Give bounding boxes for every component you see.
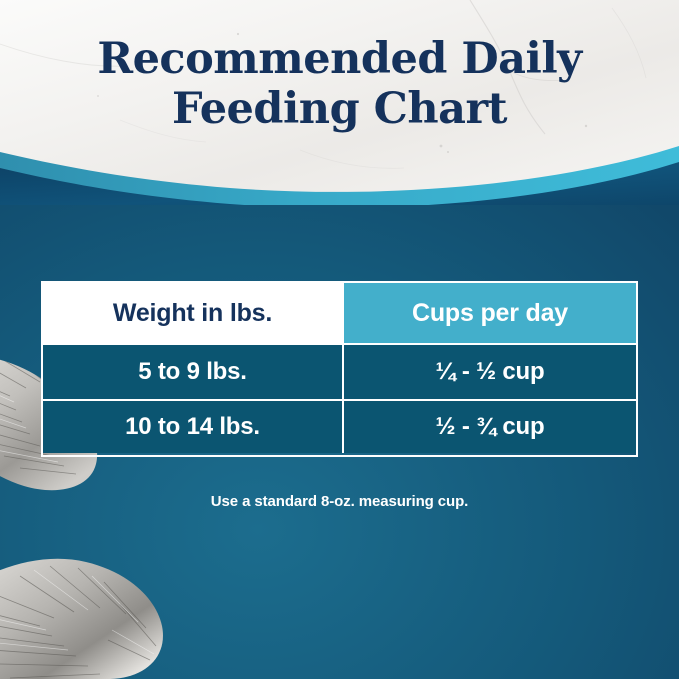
table-row: 5 to 9 lbs. ¼ - ½ cup bbox=[43, 345, 636, 399]
cat-paw-lower bbox=[0, 559, 163, 679]
cell-weight-range: 5 to 9 lbs. bbox=[43, 345, 342, 399]
hero-banner: Recommended Daily Feeding Chart bbox=[0, 0, 679, 205]
feeding-chart-poster: Recommended Daily Feeding Chart bbox=[0, 0, 679, 679]
measuring-cup-footnote: Use a standard 8-oz. measuring cup. bbox=[0, 493, 679, 510]
feeding-chart-table: Weight in lbs. Cups per day 5 to 9 lbs. … bbox=[41, 281, 638, 457]
column-header-cups: Cups per day bbox=[342, 283, 636, 343]
table-header-row: Weight in lbs. Cups per day bbox=[43, 283, 636, 345]
column-header-weight: Weight in lbs. bbox=[43, 283, 342, 343]
cell-weight-range: 10 to 14 lbs. bbox=[43, 401, 342, 453]
hero-wave-graphic bbox=[0, 0, 679, 205]
table-row: 10 to 14 lbs. ½ - ¾ cup bbox=[43, 399, 636, 453]
cell-cups-per-day: ½ - ¾ cup bbox=[342, 401, 636, 453]
cell-cups-per-day: ¼ - ½ cup bbox=[342, 345, 636, 399]
